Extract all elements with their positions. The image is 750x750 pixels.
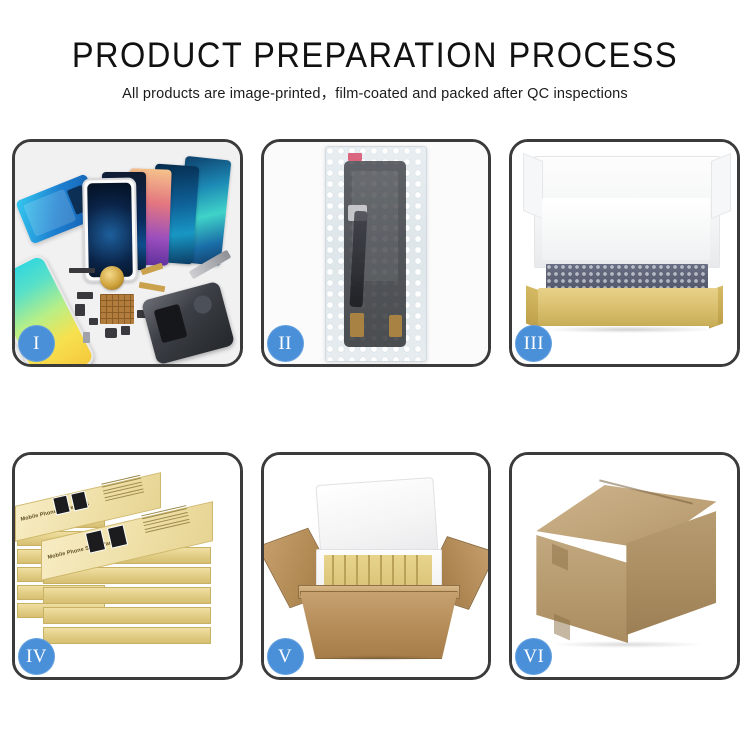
process-row-top: I II	[12, 139, 740, 367]
page-header: PRODUCT PREPARATION PROCESS All products…	[0, 0, 750, 104]
carton-body-graphic	[300, 591, 458, 659]
process-step-4[interactable]: Mobile Phone Spare Parts Mobile Phone Sp…	[12, 452, 243, 680]
qc-label-icon	[348, 153, 362, 161]
process-step-2[interactable]: II	[261, 139, 492, 367]
part-icon	[121, 326, 130, 335]
tape-icon	[350, 313, 364, 337]
foam-sheet-graphic	[542, 198, 710, 260]
stacked-box	[43, 627, 211, 644]
phone-back-housing-graphic	[140, 281, 234, 364]
drop-shadow	[552, 641, 702, 648]
drop-shadow	[316, 655, 440, 661]
process-step-5[interactable]: V	[261, 452, 492, 680]
process-step-6[interactable]: VI	[509, 452, 740, 680]
stacked-box	[43, 607, 211, 624]
bubble-wrap-bag-graphic	[325, 146, 427, 362]
part-icon	[75, 304, 85, 316]
process-step-3[interactable]: III	[509, 139, 740, 367]
speaker-coil-part-icon	[100, 266, 124, 290]
page-title: PRODUCT PREPARATION PROCESS	[26, 36, 724, 76]
step-badge-5: V	[267, 638, 304, 675]
tape-icon	[389, 315, 402, 337]
carton-left-face	[536, 535, 628, 643]
drop-shadow	[542, 326, 714, 333]
part-icon	[89, 318, 98, 325]
step-badge-2: II	[267, 325, 304, 362]
process-row-bottom: Mobile Phone Spare Parts Mobile Phone Sp…	[12, 452, 740, 680]
part-icon	[105, 328, 117, 338]
part-icon	[83, 332, 90, 343]
step-badge-4: IV	[18, 638, 55, 675]
stacked-box	[43, 587, 211, 604]
part-icon	[77, 292, 93, 299]
chip-array-part-icon	[100, 294, 134, 324]
box-base-graphic	[538, 288, 718, 326]
process-step-1[interactable]: I	[12, 139, 243, 367]
flex-cable-icon	[139, 282, 166, 292]
bubble-wrap-layer-graphic	[546, 264, 708, 290]
process-step-grid: I II	[12, 139, 740, 680]
part-icon	[69, 268, 95, 273]
step-badge-1: I	[18, 325, 55, 362]
page-subtitle: All products are image-printed，film-coat…	[11, 84, 739, 104]
